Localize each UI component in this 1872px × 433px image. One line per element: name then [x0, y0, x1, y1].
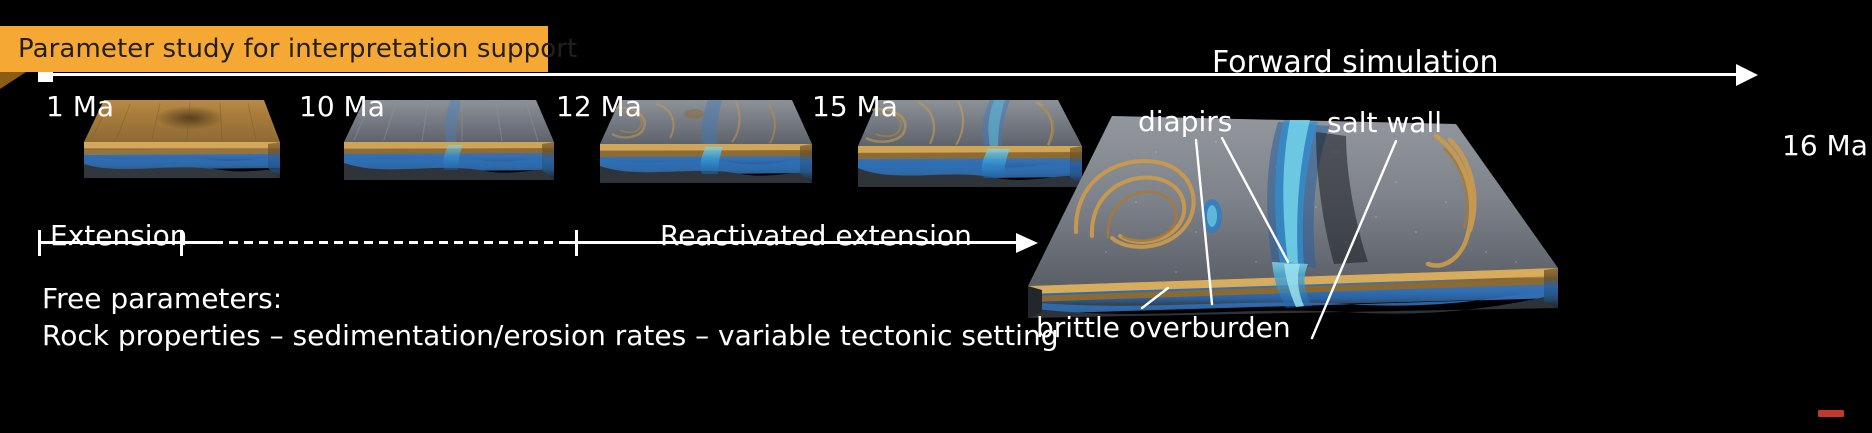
- annotation-diapirs-label: diapirs: [1138, 108, 1232, 136]
- stage-label-16ma: 16 Ma: [1782, 132, 1868, 160]
- annotation-brittle-overburden-label: brittle overburden: [1036, 314, 1291, 342]
- phase-arrow-segment-solid-right: [562, 241, 1022, 244]
- stage-label-12ma: 12 Ma: [556, 93, 642, 121]
- phase-arrow-segment-dashed: [214, 241, 562, 244]
- phase-arrow-head: [1016, 233, 1038, 253]
- stage-label-1ma: 1 Ma: [46, 93, 114, 121]
- phase-arrow-segment-solid-left: [38, 241, 214, 244]
- forward-simulation-arrow-line: [42, 73, 1742, 76]
- phase-tick-second: [575, 230, 578, 256]
- title-banner-fold: [0, 72, 26, 89]
- title-text: Parameter study for interpretation suppo…: [18, 34, 577, 64]
- slide-canvas: Parameter study for interpretation suppo…: [0, 0, 1872, 433]
- phase-label-reactivated-extension: Reactivated extension: [660, 222, 972, 250]
- free-parameters-heading: Free parameters:: [42, 281, 1058, 318]
- free-parameters-block: Free parameters: Rock properties – sedim…: [42, 281, 1058, 355]
- title-banner: Parameter study for interpretation suppo…: [0, 26, 548, 72]
- phase-label-extension: Extension: [50, 222, 187, 250]
- phase-tick-start: [38, 230, 41, 256]
- block-model-16ma: [1016, 112, 1564, 322]
- stage-label-15ma: 15 Ma: [812, 93, 898, 121]
- annotation-salt-wall-label: salt wall: [1327, 109, 1442, 137]
- forward-simulation-arrow-head: [1736, 64, 1758, 86]
- stage-label-10ma: 10 Ma: [299, 93, 385, 121]
- block-svg-16ma: [1016, 112, 1564, 322]
- free-parameters-body: Rock properties – sedimentation/erosion …: [42, 318, 1058, 355]
- phase-tick-middle: [180, 230, 183, 256]
- colorbar-nub: [1818, 410, 1844, 417]
